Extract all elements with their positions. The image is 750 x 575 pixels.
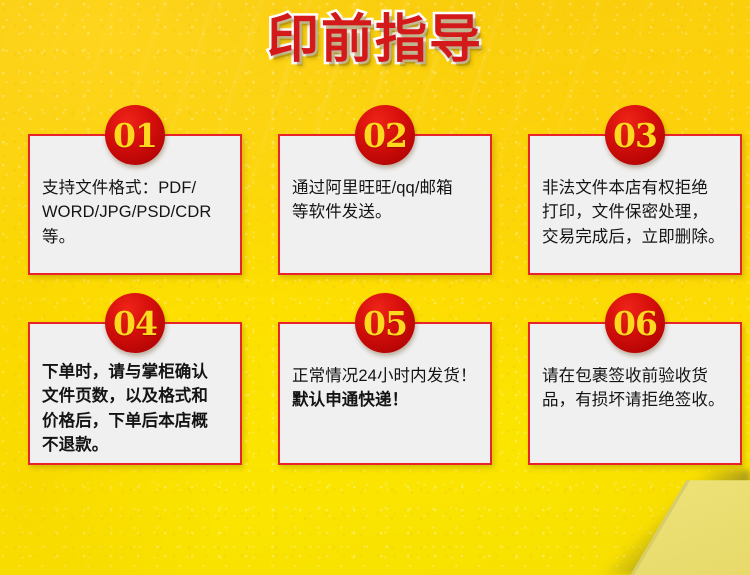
guide-card-text-line: 默认申通快递！ (292, 388, 480, 412)
guide-card: 06请在包裹签收前验收货品，有损坏请拒绝签收。 (528, 322, 742, 465)
guide-card-text-line: 请在包裹签收前验收货 (542, 364, 730, 388)
step-number-label: 03 (613, 119, 657, 152)
guide-card: 01支持文件格式：PDF/WORD/JPG/PSD/CDR等。 (28, 134, 242, 275)
guide-card-text: 支持文件格式：PDF/WORD/JPG/PSD/CDR等。 (42, 176, 230, 249)
guide-card-text: 请在包裹签收前验收货品，有损坏请拒绝签收。 (542, 364, 730, 413)
poster-title-area: 印前指导 (0, 12, 750, 69)
guide-card-text-line: 打印，文件保密处理， (542, 200, 730, 224)
guide-card-text-line: 交易完成后，立即删除。 (542, 225, 730, 249)
guide-card-text-line: WORD/JPG/PSD/CDR (42, 200, 230, 224)
step-number-label: 05 (363, 307, 407, 340)
step-number-badge: 04 (105, 293, 165, 353)
guide-card: 03非法文件本店有权拒绝打印，文件保密处理，交易完成后，立即删除。 (528, 134, 742, 275)
guide-card-text-line: 支持文件格式：PDF/ (42, 176, 230, 200)
page-title: 印前指导 (267, 12, 483, 69)
guide-card-text-line: 等软件发送。 (292, 200, 480, 224)
step-number-label: 02 (363, 119, 407, 152)
step-number-label: 01 (113, 119, 157, 152)
step-number-badge: 01 (105, 105, 165, 165)
guide-card: 02通过阿里旺旺/qq/邮箱等软件发送。 (278, 134, 492, 275)
guide-card-text: 通过阿里旺旺/qq/邮箱等软件发送。 (292, 176, 480, 225)
guide-card-text-line: 正常情况24小时内发货！ (292, 364, 480, 388)
guide-card-text: 非法文件本店有权拒绝打印，文件保密处理，交易完成后，立即删除。 (542, 176, 730, 249)
guide-card-text-line: 非法文件本店有权拒绝 (542, 176, 730, 200)
guide-card-text-line: 等。 (42, 225, 230, 249)
step-number-badge: 06 (605, 293, 665, 353)
guide-cards-grid: 01支持文件格式：PDF/WORD/JPG/PSD/CDR等。02通过阿里旺旺/… (28, 134, 742, 465)
guide-card-text-line: 不退款。 (42, 433, 230, 457)
guide-card-text-line: 文件页数，以及格式和 (42, 384, 230, 408)
step-number-label: 04 (113, 307, 157, 340)
guide-card-text: 正常情况24小时内发货！默认申通快递！ (292, 364, 480, 413)
step-number-badge: 02 (355, 105, 415, 165)
guide-card-text-line: 品，有损坏请拒绝签收。 (542, 388, 730, 412)
step-number-badge: 05 (355, 293, 415, 353)
step-number-badge: 03 (605, 105, 665, 165)
guide-card-text-line: 通过阿里旺旺/qq/邮箱 (292, 176, 480, 200)
guide-card-text-line: 价格后，下单后本店概 (42, 409, 230, 433)
guide-card-text-line: 下单时，请与掌柜确认 (42, 360, 230, 384)
guide-card: 05正常情况24小时内发货！默认申通快递！ (278, 322, 492, 465)
prepress-guide-poster: 印前指导 01支持文件格式：PDF/WORD/JPG/PSD/CDR等。02通过… (0, 0, 750, 575)
guide-card-text: 下单时，请与掌柜确认文件页数，以及格式和价格后，下单后本店概不退款。 (42, 360, 230, 458)
guide-card: 04下单时，请与掌柜确认文件页数，以及格式和价格后，下单后本店概不退款。 (28, 322, 242, 465)
step-number-label: 06 (613, 307, 657, 340)
